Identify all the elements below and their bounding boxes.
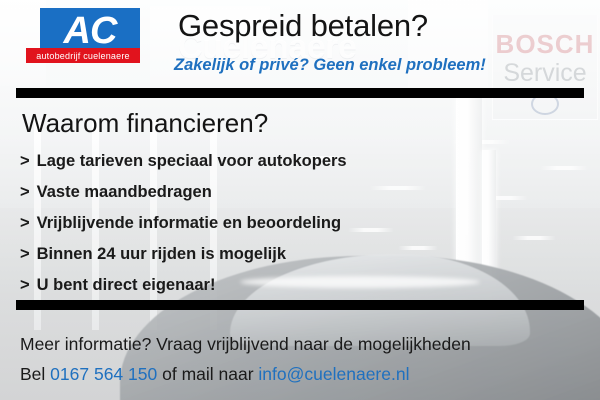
call-label: Bel: [20, 364, 45, 384]
list-item-label: Binnen 24 uur rijden is mogelijk: [37, 245, 286, 263]
list-item-label: Lage tarieven speciaal voor autokopers: [37, 152, 347, 170]
benefits-list: >Lage tarieven speciaal voor autokopers …: [20, 146, 490, 301]
list-item: >Binnen 24 uur rijden is mogelijk: [20, 239, 490, 270]
divider-top: [16, 88, 584, 98]
list-item-label: Vrijblijvende informatie en beoordeling: [37, 214, 341, 232]
list-item-label: U bent direct eigenaar!: [37, 276, 216, 294]
bullet-marker-icon: >: [20, 245, 30, 263]
phone-number[interactable]: 0167 564 150: [50, 364, 157, 384]
list-item: >Lage tarieven speciaal voor autokopers: [20, 146, 490, 177]
footer-contact: Bel 0167 564 150 of mail naar info@cuele…: [20, 364, 409, 385]
logo-tagline: autobedrijf cuelenaere: [26, 48, 140, 63]
list-item-label: Vaste maandbedragen: [37, 183, 212, 201]
list-item: >Vrijblijvende informatie en beoordeling: [20, 208, 490, 239]
bullet-marker-icon: >: [20, 276, 30, 294]
divider-bottom: [16, 300, 584, 310]
bullet-marker-icon: >: [20, 214, 30, 232]
list-item: >Vaste maandbedragen: [20, 177, 490, 208]
footer-prompt: Meer informatie? Vraag vrijblijvend naar…: [20, 334, 471, 355]
bullet-marker-icon: >: [20, 152, 30, 170]
advertisement-banner: BOSCH Service Cuelenaere AC autobedrijf …: [0, 0, 600, 400]
subheadline: Zakelijk of privé? Geen enkel probleem!: [174, 56, 486, 75]
bullet-marker-icon: >: [20, 183, 30, 201]
email-address[interactable]: info@cuelenaere.nl: [258, 364, 409, 384]
section-title: Waarom financieren?: [22, 108, 268, 139]
company-logo[interactable]: AC autobedrijf cuelenaere: [40, 8, 140, 64]
mail-label: of mail naar: [162, 364, 253, 384]
headline: Gespreid betalen?: [178, 8, 428, 44]
list-item: >U bent direct eigenaar!: [20, 270, 490, 301]
